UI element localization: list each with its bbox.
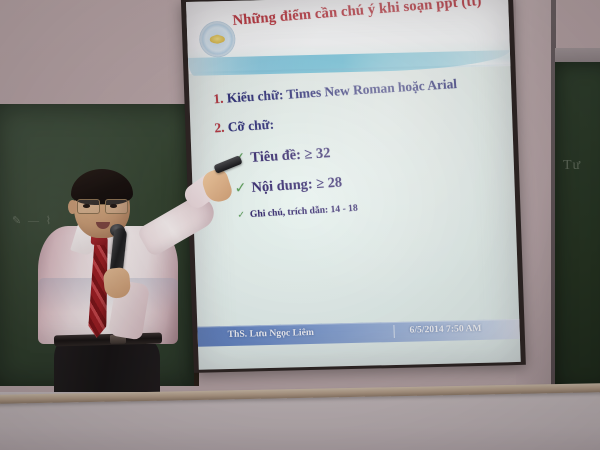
slide-footer-datetime: 6/5/2014 7:50 AM <box>409 323 481 336</box>
blackboard-right: Tư <box>555 62 600 392</box>
lecture-photo-scene: ✎ — ⌇ Tư Những điểm cần chú ý khi soạn p… <box>0 0 600 450</box>
slide-bullet-3-text: Ghi chú, trích dẫn: 14 - 18 <box>250 203 358 220</box>
slide-bullet-1-text: Tiêu đề: ≥ 32 <box>250 145 331 166</box>
slide-bullet-2-text: Nội dung: ≥ 28 <box>251 174 343 195</box>
footer-separator <box>393 325 394 338</box>
slide-title: Những điểm cần chú ý khi soạn ppt (tt) <box>232 0 503 30</box>
slide-line-1: 1. Kiểu chữ: Times New Roman hoặc Arial <box>213 76 458 107</box>
slide-bullet-1: ✓Tiêu đề: ≥ 32 <box>233 145 331 168</box>
presenter-mic-hand <box>103 267 132 299</box>
university-seal-icon <box>199 21 236 58</box>
slide-bullet-3: ✓Ghi chú, trích dẫn: 14 - 18 <box>237 203 358 221</box>
slide-line-2-text: Cỡ chữ: <box>224 117 275 135</box>
slide-header: Những điểm cần chú ý khi soạn ppt (tt) <box>186 0 510 74</box>
chalk-marks-right: Tư <box>563 158 581 174</box>
slide-line-1-text: Kiểu chữ: Times New Roman hoặc Arial <box>223 76 458 106</box>
slide-line-2: 2. Cỡ chữ: <box>214 117 275 137</box>
presenter-eye-right <box>110 204 117 208</box>
slide-bullet-2: ✓Nội dung: ≥ 28 <box>234 174 343 197</box>
presenter-eye-left <box>83 204 90 208</box>
